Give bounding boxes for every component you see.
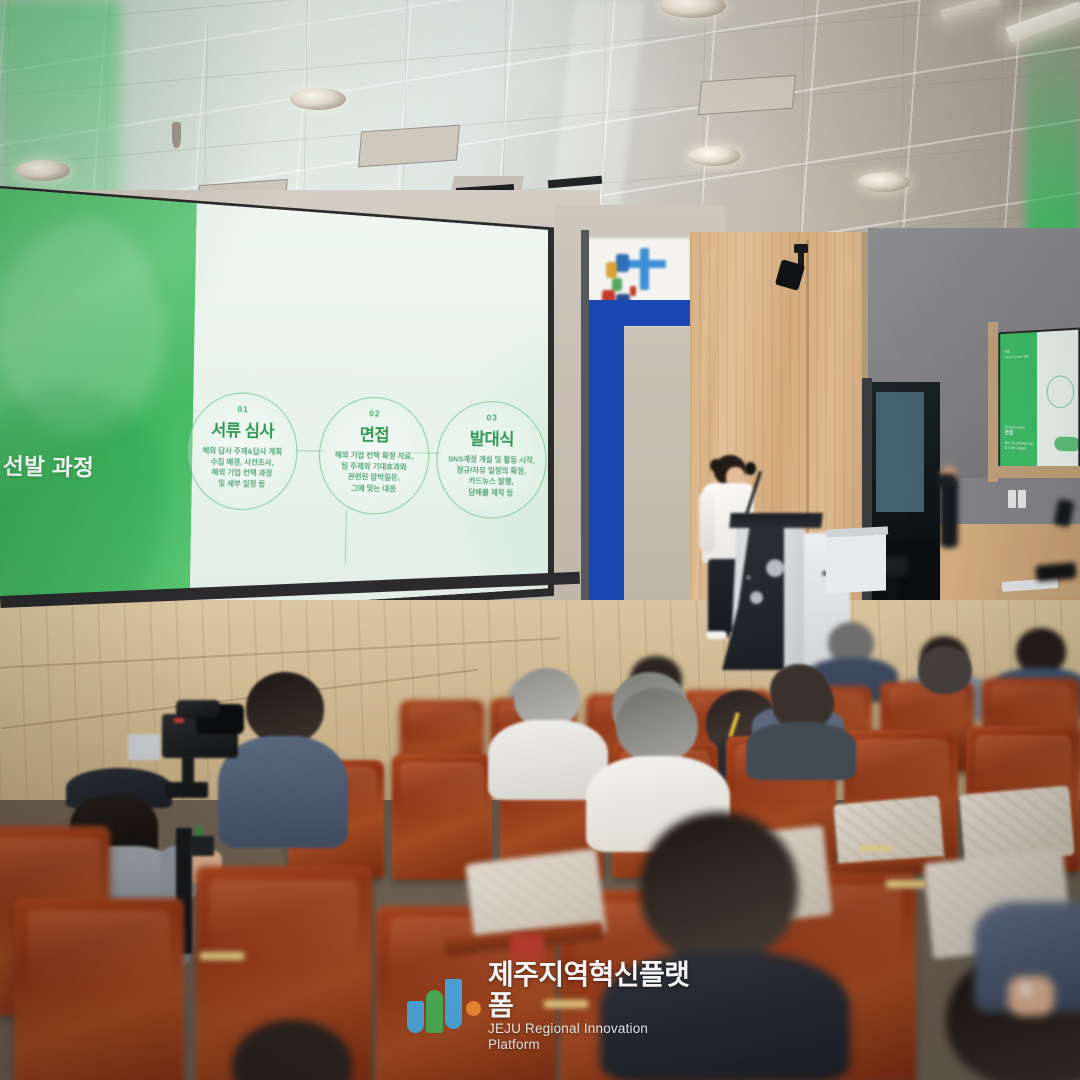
logo-bar-blue-short — [407, 1001, 424, 1033]
seat-sticker — [510, 934, 544, 960]
downlight-icon — [16, 160, 70, 181]
slide-title-line2: al Frontier 선발 과정 — [0, 446, 94, 483]
podium-indicator-led — [746, 575, 751, 580]
mural-figure — [612, 278, 622, 291]
downlight-icon — [290, 88, 346, 110]
logo-bar-green — [426, 990, 443, 1033]
wall-blue-pillar — [588, 316, 624, 616]
mural-figure — [606, 262, 617, 278]
wall-switch-icon — [1018, 490, 1026, 508]
camera-monitor-screen — [128, 734, 160, 760]
person-head — [918, 646, 972, 694]
logo: 제주지역혁신플랫폼 JEJU Regional Innovation Platf… — [406, 975, 696, 1037]
side-monitor-step-circle — [1047, 375, 1075, 408]
person-hand — [1008, 976, 1054, 1016]
side-monitor-pill — [1054, 436, 1078, 451]
podium-control-knob — [750, 591, 763, 604]
sprinkler-icon — [172, 122, 181, 148]
slide-leaf-graphic — [0, 367, 193, 626]
monitor-frame-wood — [988, 322, 998, 482]
monitor-shelf — [988, 466, 1080, 478]
step-number: 03 — [438, 413, 546, 424]
side-monitor-body: 해외 기업 컨택 확정 자료 팀 주제와 기대효과 — [1005, 441, 1036, 452]
wall-edge-trim — [581, 230, 589, 630]
seat-number-tag — [886, 880, 926, 888]
step-body: SNS계정 개설 및 활동 시작,정규/자유 일정의 확정,카드뉴스 발행,담배… — [437, 454, 546, 499]
slide-green-panel — [0, 182, 197, 626]
podium — [722, 505, 832, 670]
downlight-icon — [858, 172, 910, 192]
logo-mark-icon — [406, 979, 464, 1033]
step-heading: 서류 심사 — [188, 415, 297, 442]
ring-icon — [1020, 984, 1032, 996]
logo-english-name: JEJU Regional Innovation Platform — [488, 1021, 696, 1053]
logo-dot-orange — [466, 1001, 481, 1016]
floor-seam — [0, 637, 559, 668]
ceiling-tile-panel — [698, 75, 796, 115]
side-monitor-section-heading: 면접 — [1005, 431, 1036, 437]
logo-text-block: 제주지역혁신플랫폼 JEJU Regional Innovation Platf… — [474, 959, 696, 1053]
doorway-interior-wall — [876, 392, 924, 512]
mural-figure — [616, 254, 629, 272]
mural-airplane-wing — [624, 260, 666, 268]
step-body: 해외 기업 컨택 확정 자료,팀 주제와 기대효과와관련된 압박질문,그에 맞는… — [319, 450, 428, 495]
ceiling-green-light-right — [1026, 0, 1080, 252]
presenter-arm — [699, 491, 715, 553]
ceiling-tile-panel — [358, 125, 460, 168]
logo-bar-blue-tall — [445, 979, 462, 1029]
step-body: 해외 답사 주제&답사 계획수집 배경, 사전조사,해외 기업 컨택 과정및 세… — [188, 445, 297, 490]
equipment-camera — [884, 556, 908, 576]
photographer-camera-icon — [936, 474, 956, 487]
slide-content: 걸음들 al Frontier 선발 과정 al Frontier 과정 언 G… — [0, 182, 548, 626]
person-head-grey-hair — [514, 668, 580, 728]
seat-number-tag — [860, 846, 894, 851]
camera-record-indicator — [174, 718, 184, 723]
projection-screen: 걸음들 al Frontier 선발 과정 al Frontier 과정 언 G… — [0, 182, 548, 626]
mural-airplane-icon — [640, 248, 649, 290]
tripod-riser — [182, 756, 194, 792]
person-head — [640, 812, 798, 962]
seat — [14, 898, 184, 1080]
presenter-hair-bun — [710, 459, 722, 472]
camera-top-handle — [176, 700, 220, 718]
logo-korean-name: 제주지역혁신플랫폼 — [488, 959, 696, 1021]
photographer-body — [940, 478, 958, 548]
person-head-grey-hair — [616, 688, 698, 762]
side-monitor-screen: 면접 Glocal Frontier 선발 Glocal Frontier 면접… — [1000, 330, 1078, 475]
wall-switch-icon — [1008, 490, 1016, 508]
step-heading: 면접 — [320, 420, 429, 447]
step-number: 02 — [321, 408, 429, 419]
camera-control-unit — [190, 836, 214, 856]
step-number: 01 — [189, 404, 297, 415]
podium-top-surface — [729, 513, 823, 528]
downlight-icon — [688, 146, 740, 166]
step-heading: 발대식 — [438, 424, 547, 451]
person-shoulders — [746, 722, 856, 780]
podium-control-knob — [766, 559, 784, 577]
seat-number-tag — [200, 952, 244, 960]
person-head — [246, 672, 324, 744]
screenshot-root: 면접 Glocal Frontier 선발 Glocal Frontier 면접… — [0, 0, 1080, 1080]
seat — [392, 754, 492, 880]
mural-detail — [630, 286, 636, 296]
microphone-head-icon — [745, 462, 756, 475]
podium-side-cabinet — [826, 534, 886, 593]
side-monitor: 면접 Glocal Frontier 선발 Glocal Frontier 면접… — [998, 328, 1080, 477]
